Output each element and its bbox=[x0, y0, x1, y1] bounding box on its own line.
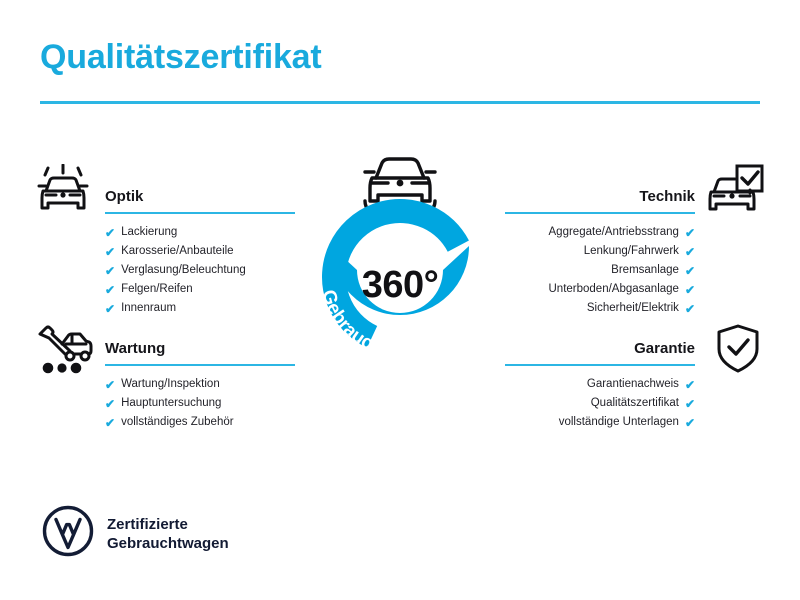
list-item-label: Verglasung/Beleuchtung bbox=[121, 261, 246, 280]
checklist-wartung: ✔Wartung/Inspektion ✔Hauptuntersuchung ✔… bbox=[105, 375, 295, 432]
list-item: vollständige Unterlagen✔ bbox=[505, 413, 695, 432]
list-item: Lenkung/Fahrwerk✔ bbox=[505, 242, 695, 261]
list-item: Garantienachweis✔ bbox=[505, 375, 695, 394]
footer-text: Zertifizierte Gebrauchtwagen bbox=[107, 515, 229, 553]
badge-degrees: 360° bbox=[297, 264, 503, 307]
section-heading-optik: Optik bbox=[105, 188, 295, 206]
list-item: ✔Karosserie/Anbauteile bbox=[105, 242, 295, 261]
list-item-label: Hauptuntersuchung bbox=[121, 394, 221, 413]
list-item-label: Lackierung bbox=[121, 223, 177, 242]
checklist-garantie: Garantienachweis✔ Qualitätszertifikat✔ v… bbox=[505, 375, 695, 432]
check-icon: ✔ bbox=[685, 379, 695, 391]
footer-brand: Zertifizierte Gebrauchtwagen bbox=[42, 505, 229, 562]
check-icon: ✔ bbox=[105, 284, 115, 296]
check-icon: ✔ bbox=[685, 284, 695, 296]
section-technik: Technik Aggregate/Antriebsstrang✔ Lenkun… bbox=[505, 188, 695, 318]
check-badge: Gebrauchtwagen-Check 360° bbox=[297, 152, 503, 368]
title-divider bbox=[40, 101, 760, 104]
section-divider-optik bbox=[105, 212, 295, 214]
list-item: ✔Wartung/Inspektion bbox=[105, 375, 295, 394]
check-icon: ✔ bbox=[105, 303, 115, 315]
list-item: ✔Innenraum bbox=[105, 299, 295, 318]
checklist-optik: ✔Lackierung ✔Karosserie/Anbauteile ✔Verg… bbox=[105, 223, 295, 318]
list-item: ✔Hauptuntersuchung bbox=[105, 394, 295, 413]
list-item-label: Innenraum bbox=[121, 299, 176, 318]
list-item-label: Felgen/Reifen bbox=[121, 280, 193, 299]
section-divider-wartung bbox=[105, 364, 295, 366]
list-item: Unterboden/Abgasanlage✔ bbox=[505, 280, 695, 299]
check-icon: ✔ bbox=[685, 227, 695, 239]
list-item: ✔Verglasung/Beleuchtung bbox=[105, 261, 295, 280]
section-divider-technik bbox=[505, 212, 695, 214]
section-heading-wartung: Wartung bbox=[105, 340, 295, 358]
list-item: ✔Felgen/Reifen bbox=[105, 280, 295, 299]
certificate-page: Qualitätszertifikat bbox=[0, 0, 800, 600]
list-item-label: Unterboden/Abgasanlage bbox=[549, 280, 679, 299]
shield-check-icon bbox=[716, 324, 760, 379]
list-item-label: Aggregate/Antriebsstrang bbox=[549, 223, 679, 242]
check-icon: ✔ bbox=[685, 417, 695, 429]
check-icon: ✔ bbox=[105, 265, 115, 277]
checklist-technik: Aggregate/Antriebsstrang✔ Lenkung/Fahrwe… bbox=[505, 223, 695, 318]
section-wartung: Wartung ✔Wartung/Inspektion ✔Hauptunters… bbox=[105, 340, 295, 432]
check-icon: ✔ bbox=[105, 227, 115, 239]
section-heading-garantie: Garantie bbox=[505, 340, 695, 358]
section-divider-garantie bbox=[505, 364, 695, 366]
car-checkbox-icon bbox=[706, 164, 764, 221]
check-icon: ✔ bbox=[685, 246, 695, 258]
car-headlights-icon bbox=[36, 164, 92, 219]
check-icon: ✔ bbox=[685, 398, 695, 410]
section-garantie: Garantie Garantienachweis✔ Qualitätszert… bbox=[505, 340, 695, 432]
list-item-label: vollständiges Zubehör bbox=[121, 413, 234, 432]
list-item: ✔vollständiges Zubehör bbox=[105, 413, 295, 432]
footer-line-2: Gebrauchtwagen bbox=[107, 534, 229, 553]
list-item-label: vollständige Unterlagen bbox=[559, 413, 679, 432]
list-item: Aggregate/Antriebsstrang✔ bbox=[505, 223, 695, 242]
list-item-label: Karosserie/Anbauteile bbox=[121, 242, 234, 261]
list-item-label: Sicherheit/Elektrik bbox=[587, 299, 679, 318]
page-title: Qualitätszertifikat bbox=[40, 38, 322, 77]
check-icon: ✔ bbox=[105, 379, 115, 391]
list-item: Sicherheit/Elektrik✔ bbox=[505, 299, 695, 318]
list-item-label: Wartung/Inspektion bbox=[121, 375, 220, 394]
vw-logo-icon bbox=[42, 505, 94, 562]
check-icon: ✔ bbox=[685, 265, 695, 277]
check-icon: ✔ bbox=[105, 246, 115, 258]
list-item-label: Garantienachweis bbox=[587, 375, 679, 394]
list-item: Qualitätszertifikat✔ bbox=[505, 394, 695, 413]
section-optik: Optik ✔Lackierung ✔Karosserie/Anbauteile… bbox=[105, 188, 295, 318]
car-service-lift-icon bbox=[36, 324, 94, 379]
list-item-label: Bremsanlage bbox=[611, 261, 679, 280]
check-icon: ✔ bbox=[105, 398, 115, 410]
list-item: Bremsanlage✔ bbox=[505, 261, 695, 280]
check-icon: ✔ bbox=[685, 303, 695, 315]
list-item-label: Lenkung/Fahrwerk bbox=[584, 242, 679, 261]
list-item-label: Qualitätszertifikat bbox=[591, 394, 679, 413]
check-icon: ✔ bbox=[105, 417, 115, 429]
footer-line-1: Zertifizierte bbox=[107, 515, 229, 534]
list-item: ✔Lackierung bbox=[105, 223, 295, 242]
section-heading-technik: Technik bbox=[505, 188, 695, 206]
